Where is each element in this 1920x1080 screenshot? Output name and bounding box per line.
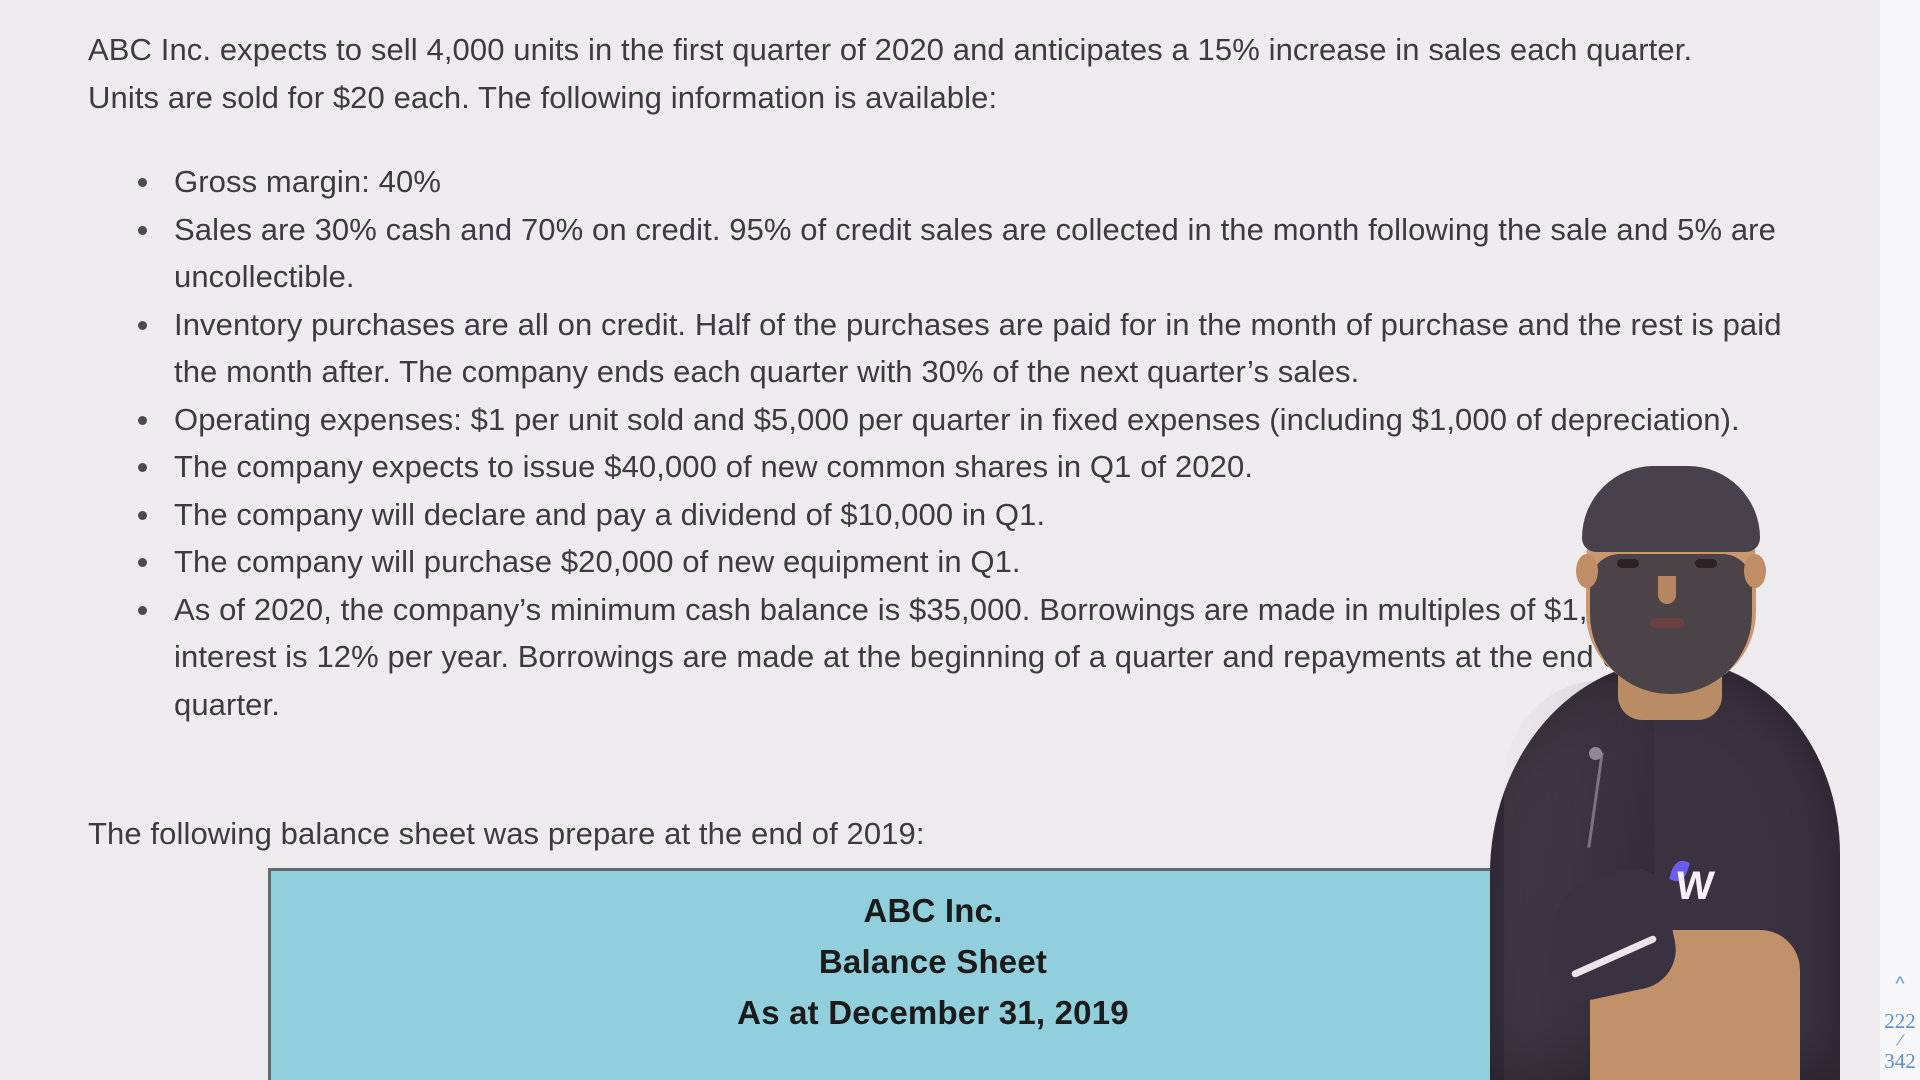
list-item-label: The company will declare and pay a divid… — [174, 497, 1045, 532]
bullet-dot-icon — [138, 511, 147, 520]
list-item-label: The company will purchase $20,000 of new… — [174, 544, 1021, 579]
slide-canvas: ABC Inc. expects to sell 4,000 units in … — [0, 0, 1880, 1080]
bullet-dot-icon — [138, 416, 147, 425]
assumptions-bullet-list: Gross margin: 40% Sales are 30% cash and… — [130, 158, 1790, 728]
list-item: Gross margin: 40% — [130, 158, 1790, 206]
bullet-dot-icon — [138, 321, 147, 330]
balance-sheet-as-at-date: As at December 31, 2019 — [271, 987, 1595, 1038]
shirt-logo: W — [1666, 856, 1746, 908]
balance-sheet-statement-title: Balance Sheet — [271, 936, 1595, 987]
list-item: The company will declare and pay a divid… — [130, 491, 1790, 539]
balance-sheet-company-name: ABC Inc. — [271, 871, 1595, 936]
chevron-up-icon[interactable]: ^ — [1896, 975, 1905, 994]
list-item-label: The company expects to issue $40,000 of … — [174, 449, 1253, 484]
list-item: Sales are 30% cash and 70% on credit. 95… — [130, 206, 1790, 301]
shirt-logo-letter: W — [1674, 866, 1711, 906]
list-item: Operating expenses: $1 per unit sold and… — [130, 396, 1790, 444]
bullet-dot-icon — [138, 463, 147, 472]
bullet-dot-icon — [138, 558, 147, 567]
list-item: Inventory purchases are all on credit. H… — [130, 301, 1790, 396]
list-item-label: Gross margin: 40% — [174, 164, 441, 199]
presenter-arm — [1590, 930, 1800, 1080]
bullet-dot-icon — [138, 178, 147, 187]
bullet-dot-icon — [138, 606, 147, 615]
shirt-logo-leaf-icon — [1669, 858, 1690, 884]
list-item-label: As of 2020, the company’s minimum cash b… — [174, 592, 1700, 722]
presenter-lapel-mic-wire — [1587, 752, 1603, 847]
list-item-label: Sales are 30% cash and 70% on credit. 95… — [174, 212, 1776, 295]
list-item-label: Operating expenses: $1 per unit sold and… — [174, 402, 1740, 437]
closing-paragraph: The following balance sheet was prepare … — [88, 810, 1588, 858]
intro-paragraph: ABC Inc. expects to sell 4,000 units in … — [88, 26, 1748, 122]
total-page-number: 342 — [1884, 1049, 1916, 1073]
list-item: The company expects to issue $40,000 of … — [130, 443, 1790, 491]
bullet-dot-icon — [138, 226, 147, 235]
list-item: As of 2020, the company’s minimum cash b… — [130, 586, 1790, 729]
presenter-lapel-mic — [1589, 747, 1602, 760]
list-item: The company will purchase $20,000 of new… — [130, 538, 1790, 586]
balance-sheet-table: ABC Inc. Balance Sheet As at December 31… — [268, 868, 1598, 1080]
list-item-label: Inventory purchases are all on credit. H… — [174, 307, 1782, 390]
page-indicator[interactable]: 222 / 342 — [1880, 1008, 1920, 1074]
right-sidebar: ^ 222 / 342 — [1880, 0, 1920, 1080]
